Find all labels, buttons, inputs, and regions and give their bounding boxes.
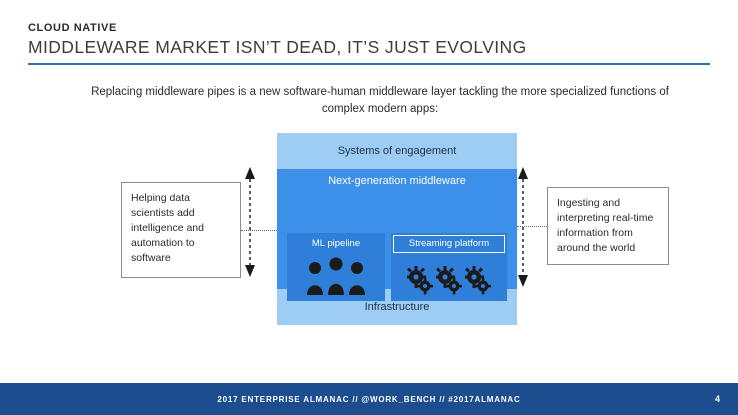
box-label-ml-pipeline: ML pipeline — [287, 238, 385, 249]
slide: CLOUD NATIVE MIDDLEWARE MARKET ISN’T DEA… — [0, 0, 738, 415]
double-arrow-left — [244, 167, 256, 277]
title-divider — [28, 63, 710, 65]
footer-text: 2017 ENTERPRISE ALMANAC // @WORK_BENCH /… — [0, 383, 738, 415]
box-label-streaming-platform: Streaming platform — [393, 235, 505, 253]
layer-systems-of-engagement: Systems of engagement — [277, 133, 517, 169]
footer-page-number: 4 — [715, 383, 720, 415]
callout-right: Ingesting and interpreting real-time inf… — [547, 187, 669, 265]
slide-footer: 2017 ENTERPRISE ALMANAC // @WORK_BENCH /… — [0, 383, 738, 415]
callout-left: Helping data scientists add intelligence… — [121, 182, 241, 278]
layer-label-nextgen: Next-generation middleware — [277, 175, 517, 187]
layer-label-engagement: Systems of engagement — [338, 145, 457, 157]
double-arrow-right — [517, 167, 529, 287]
page-title: MIDDLEWARE MARKET ISN’T DEAD, IT’S JUST … — [28, 37, 527, 58]
intro-paragraph: Replacing middleware pipes is a new soft… — [80, 84, 680, 118]
slide-eyebrow: CLOUD NATIVE — [28, 22, 117, 34]
layer-label-infrastructure: Infrastructure — [365, 301, 430, 313]
layer-infrastructure: Infrastructure — [277, 289, 517, 325]
layer-stack-diagram: Systems of engagement Next-generation mi… — [277, 133, 517, 325]
layer-next-generation-middleware: Next-generation middleware ML pipeline — [277, 169, 517, 289]
